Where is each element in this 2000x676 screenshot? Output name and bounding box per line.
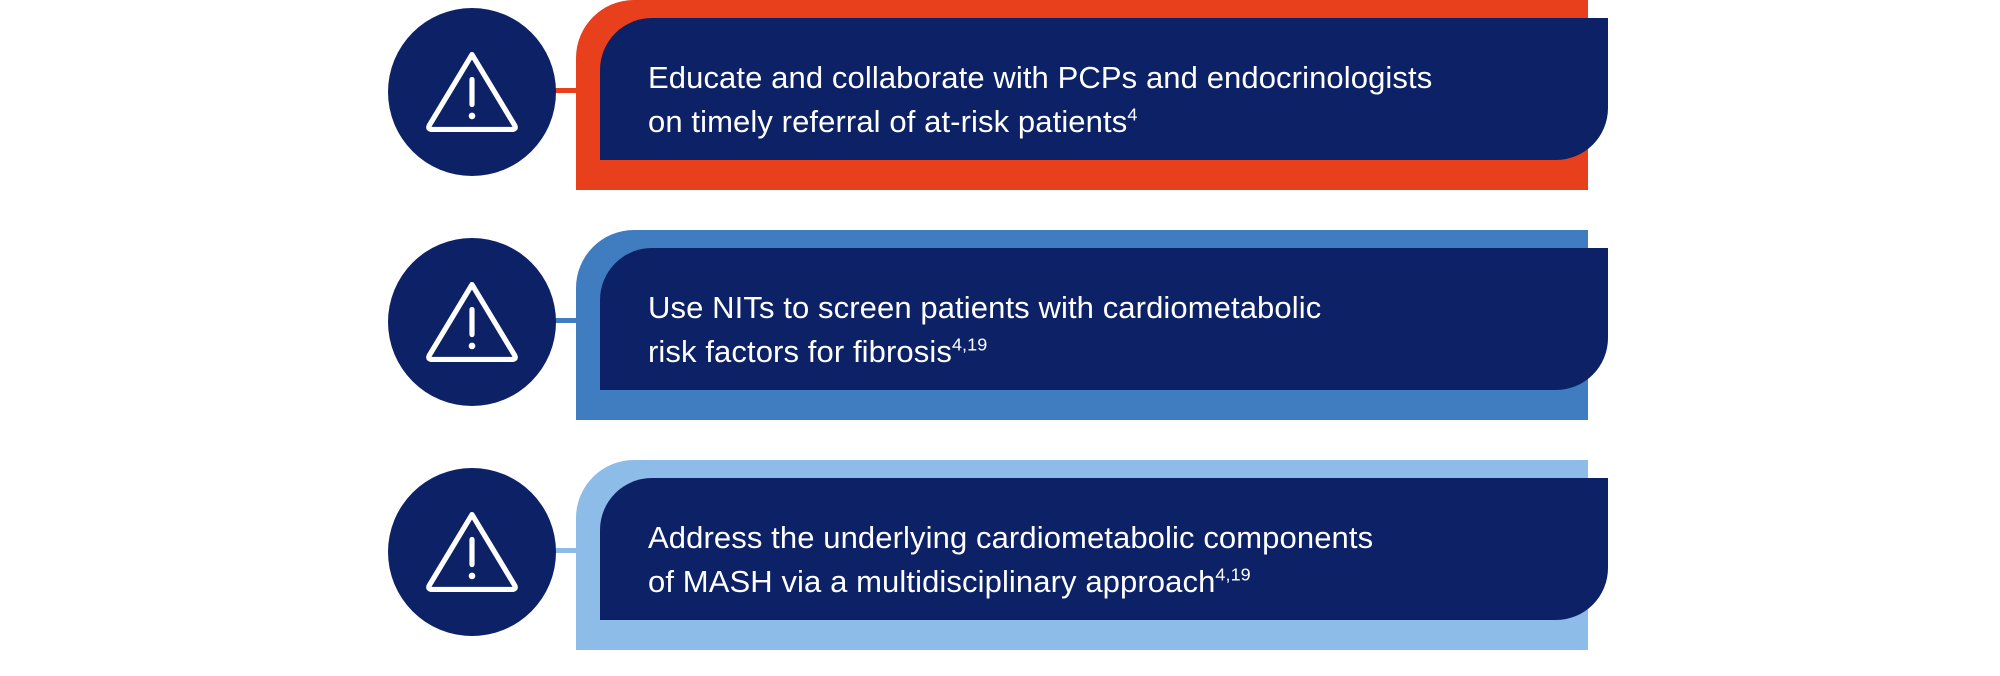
callout-row-1: Educate and collaborate with PCPs and en… xyxy=(0,0,2000,230)
connector-line-3 xyxy=(552,548,592,553)
warning-badge-1 xyxy=(388,8,556,176)
callout-row-2: Use NITs to screen patients with cardiom… xyxy=(0,230,2000,460)
warning-triangle-icon xyxy=(420,270,524,374)
callout-line-2b: risk factors for fibrosis4,19 xyxy=(648,330,1568,374)
warning-triangle-icon xyxy=(420,40,524,144)
citation-superscript-3: 4,19 xyxy=(1215,565,1250,585)
callout-line-3a: Address the underlying cardiometabolic c… xyxy=(648,516,1568,560)
citation-superscript-2: 4,19 xyxy=(952,335,987,355)
warning-triangle-icon xyxy=(420,500,524,604)
callout-text-2: Use NITs to screen patients with cardiom… xyxy=(648,286,1568,374)
callout-line-1a: Educate and collaborate with PCPs and en… xyxy=(648,56,1568,100)
infographic-canvas: Educate and collaborate with PCPs and en… xyxy=(0,0,2000,676)
callout-line-3b: of MASH via a multidisciplinary approach… xyxy=(648,560,1568,604)
citation-superscript-1: 4 xyxy=(1127,105,1137,125)
callout-line-1b: on timely referral of at-risk patients4 xyxy=(648,100,1568,144)
callout-text-3: Address the underlying cardiometabolic c… xyxy=(648,516,1568,604)
callout-text-1: Educate and collaborate with PCPs and en… xyxy=(648,56,1568,144)
warning-badge-3 xyxy=(388,468,556,636)
warning-badge-2 xyxy=(388,238,556,406)
connector-line-2 xyxy=(552,318,592,323)
callout-row-3: Address the underlying cardiometabolic c… xyxy=(0,460,2000,676)
connector-line-1 xyxy=(552,88,592,93)
callout-card-1: Educate and collaborate with PCPs and en… xyxy=(600,18,1608,160)
callout-card-2: Use NITs to screen patients with cardiom… xyxy=(600,248,1608,390)
callout-line-2a: Use NITs to screen patients with cardiom… xyxy=(648,286,1568,330)
callout-card-3: Address the underlying cardiometabolic c… xyxy=(600,478,1608,620)
